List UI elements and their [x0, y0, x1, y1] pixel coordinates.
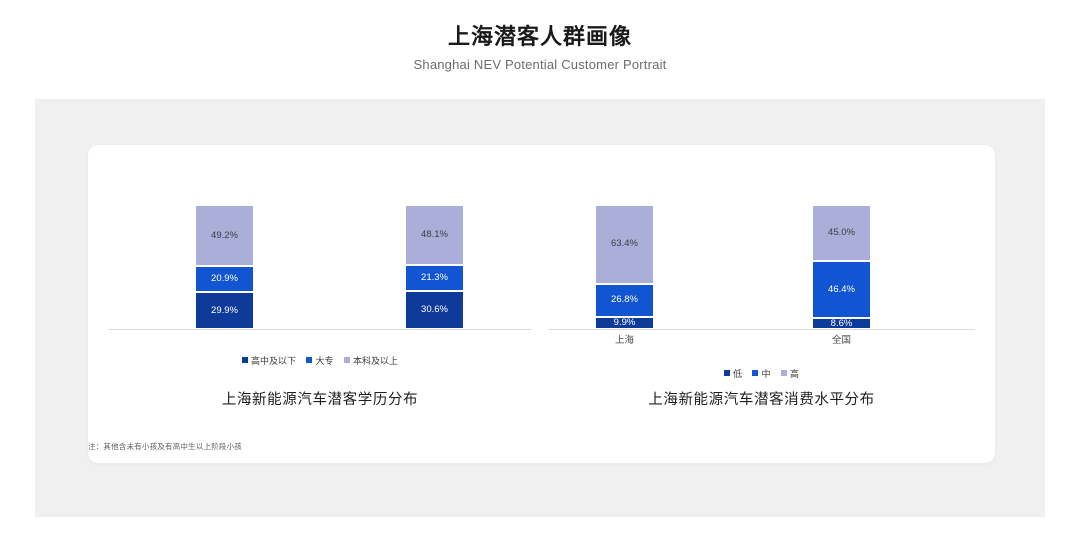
stacked-bar[interactable]: 63.4% 26.8% 9.9%: [595, 205, 654, 329]
legend-item[interactable]: 中: [752, 367, 770, 380]
legend-consumption: 低 中 高: [540, 367, 983, 380]
bar-segment[interactable]: 26.8%: [595, 284, 654, 317]
bar-segment[interactable]: 9.9%: [595, 317, 654, 329]
legend-swatch-icon: [752, 370, 758, 376]
legend-swatch-icon: [724, 370, 730, 376]
bar-segment[interactable]: 46.4%: [812, 261, 871, 319]
charts-container: 49.2% 20.9% 29.9% 48.1% 21.3% 30.6% 高中及以…: [88, 145, 995, 463]
legend-label: 低: [733, 369, 742, 379]
bar-segment[interactable]: 49.2%: [195, 205, 254, 266]
x-tick-label: 上海: [595, 332, 654, 346]
legend-label: 大专: [315, 356, 333, 366]
x-tick-label: 全国: [812, 332, 871, 346]
bar-segment[interactable]: 29.9%: [195, 292, 254, 329]
stacked-bar[interactable]: 45.0% 46.4% 8.6%: [812, 205, 871, 329]
chart-caption-education: 上海新能源汽车潜客学历分布: [100, 388, 540, 409]
legend-item[interactable]: 高中及以下: [242, 354, 296, 367]
bar-segment[interactable]: 63.4%: [595, 205, 654, 284]
stacked-bar[interactable]: 48.1% 21.3% 30.6%: [405, 205, 464, 329]
plot-area-education: 49.2% 20.9% 29.9% 48.1% 21.3% 30.6%: [100, 190, 540, 330]
plot-area-consumption: 63.4% 26.8% 9.9% 45.0% 46.4% 8.6%: [540, 190, 983, 330]
page-title: 上海潜客人群画像: [0, 24, 1080, 50]
x-axis-line: [108, 329, 532, 330]
slide-panel: 49.2% 20.9% 29.9% 48.1% 21.3% 30.6% 高中及以…: [35, 99, 1045, 517]
bar-segment[interactable]: 30.6%: [405, 291, 464, 329]
legend-label: 本科及以上: [353, 356, 398, 366]
x-axis-tick-labels: 上海 全国: [540, 332, 983, 348]
bar-segment[interactable]: 45.0%: [812, 205, 871, 261]
x-axis-line: [548, 329, 975, 330]
legend-swatch-icon: [781, 370, 787, 376]
legend-item[interactable]: 高: [781, 367, 799, 380]
bar-segment[interactable]: 48.1%: [405, 205, 464, 265]
legend-item[interactable]: 大专: [306, 354, 333, 367]
legend-item[interactable]: 本科及以上: [344, 354, 398, 367]
chart-caption-consumption: 上海新能源汽车潜客消费水平分布: [540, 388, 983, 409]
page-subtitle: Shanghai NEV Potential Customer Portrait: [0, 57, 1080, 72]
bar-segment[interactable]: 8.6%: [812, 318, 871, 329]
chart-card: 49.2% 20.9% 29.9% 48.1% 21.3% 30.6% 高中及以…: [88, 145, 995, 463]
legend-swatch-icon: [344, 357, 350, 363]
legend-swatch-icon: [306, 357, 312, 363]
legend-label: 中: [761, 369, 770, 379]
chart-consumption-distribution: 63.4% 26.8% 9.9% 45.0% 46.4% 8.6% 上海 全国: [540, 145, 983, 463]
footnote: 注：其他含未有小孩及有高中生以上阶段小孩: [88, 441, 242, 452]
legend-swatch-icon: [242, 357, 248, 363]
legend-education: 高中及以下 大专 本科及以上: [100, 354, 540, 367]
legend-label: 高中及以下: [251, 356, 296, 366]
stacked-bar[interactable]: 49.2% 20.9% 29.9%: [195, 205, 254, 329]
chart-education-distribution: 49.2% 20.9% 29.9% 48.1% 21.3% 30.6% 高中及以…: [100, 145, 540, 463]
bar-segment[interactable]: 20.9%: [195, 266, 254, 292]
page-header: 上海潜客人群画像 Shanghai NEV Potential Customer…: [0, 0, 1080, 72]
legend-item[interactable]: 低: [724, 367, 742, 380]
legend-label: 高: [790, 369, 799, 379]
bar-segment[interactable]: 21.3%: [405, 265, 464, 291]
